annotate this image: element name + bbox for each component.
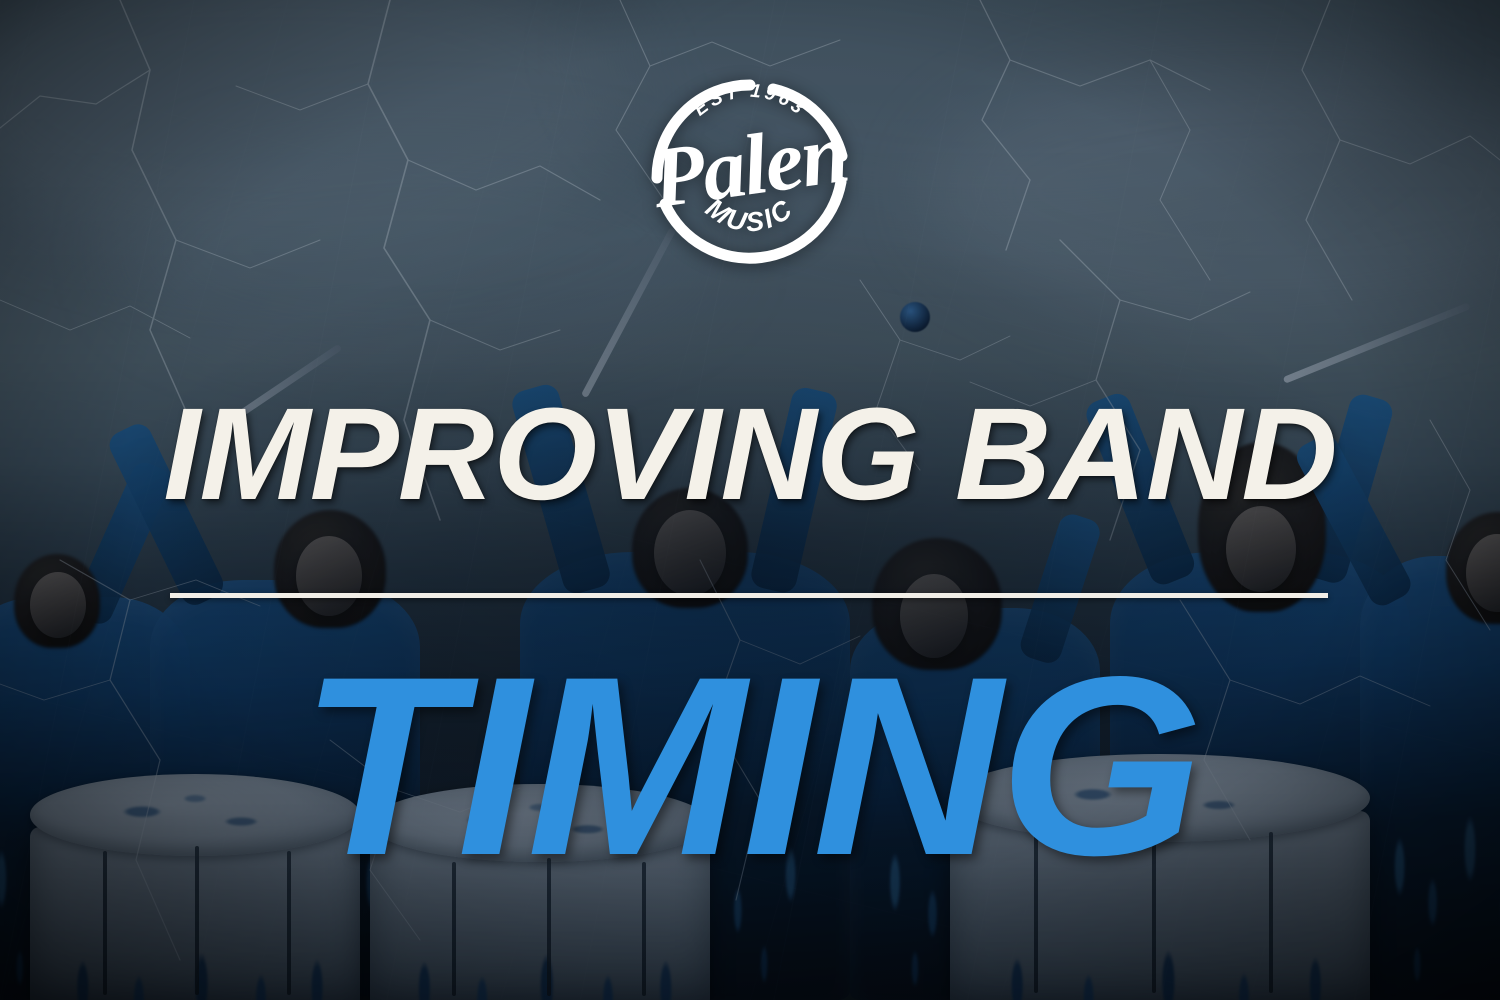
subject-title: TIMING	[0, 639, 1500, 894]
page-title: IMPROVING BAND	[0, 388, 1500, 519]
title-divider	[170, 593, 1328, 598]
palen-music-logo: EST 1963 Palen MUSIC	[627, 52, 873, 268]
banner-content: EST 1963 Palen MUSIC IMPROVING BAND TIMI…	[0, 0, 1500, 1000]
promo-banner: EST 1963 Palen MUSIC IMPROVING BAND TIMI…	[0, 0, 1500, 1000]
